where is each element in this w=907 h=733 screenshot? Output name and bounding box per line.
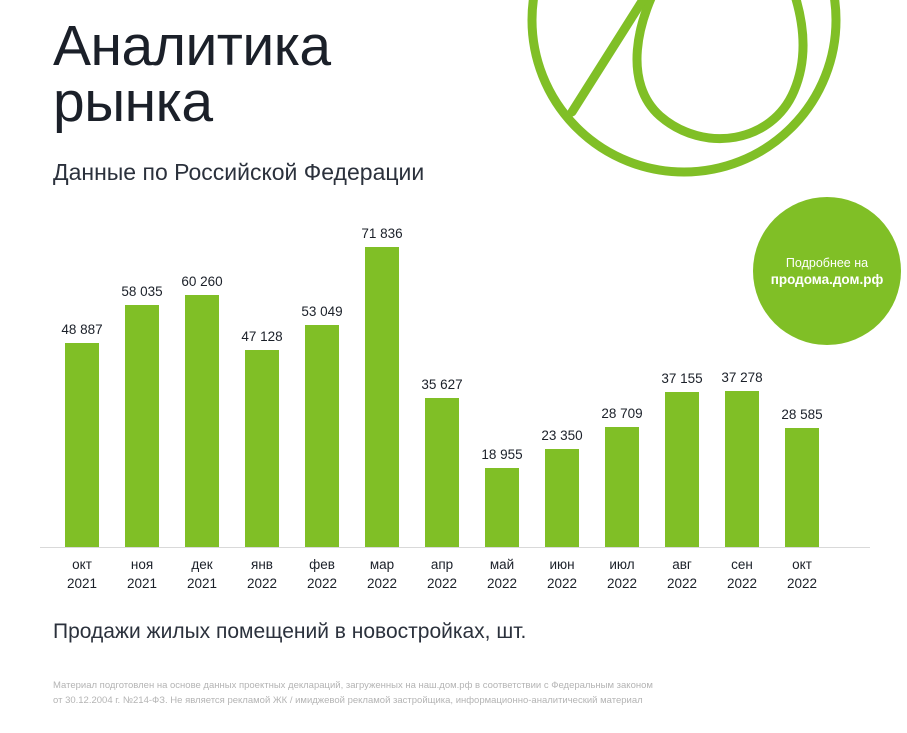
chart-baseline-axis — [40, 547, 870, 548]
chart-bar — [305, 325, 339, 547]
chart-bar-value-label: 71 836 — [352, 226, 412, 241]
chart-bar — [665, 392, 699, 547]
chart-x-label: май2022 — [472, 555, 532, 593]
chart-bar-group: 18 955 — [472, 230, 532, 547]
footer-line-1: Материал подготовлен на основе данных пр… — [53, 678, 853, 693]
chart-plot-area: 48 88758 03560 26047 12853 04971 83635 6… — [40, 230, 870, 547]
chart-bar-group: 53 049 — [292, 230, 352, 547]
chart-bar-value-label: 53 049 — [292, 304, 352, 319]
chart-bar-group: 47 128 — [232, 230, 292, 547]
chart-x-label: авг2022 — [652, 555, 712, 593]
chart-bar — [485, 468, 519, 547]
chart-bar-group: 28 709 — [592, 230, 652, 547]
chart-bar-value-label: 60 260 — [172, 274, 232, 289]
header: Аналитика рынка Данные по Российской Фед… — [53, 18, 523, 186]
infographic-page: Аналитика рынка Данные по Российской Фед… — [0, 0, 907, 733]
chart-x-label: окт2022 — [772, 555, 832, 593]
chart-x-label: июл2022 — [592, 555, 652, 593]
chart-bar-value-label: 28 709 — [592, 406, 652, 421]
chart-bar-value-label: 23 350 — [532, 428, 592, 443]
chart-bar — [365, 247, 399, 547]
chart-bar-value-label: 58 035 — [112, 284, 172, 299]
chart-x-label: фев2022 — [292, 555, 352, 593]
chart-bar-group: 58 035 — [112, 230, 172, 547]
chart-x-label: июн2022 — [532, 555, 592, 593]
page-subtitle: Данные по Российской Федерации — [53, 158, 523, 186]
chart-caption: Продажи жилых помещений в новостройках, … — [53, 619, 526, 645]
chart-bar — [725, 391, 759, 547]
sales-bar-chart: 48 88758 03560 26047 12853 04971 83635 6… — [40, 230, 870, 550]
chart-bar — [125, 305, 159, 547]
chart-bar-group: 23 350 — [532, 230, 592, 547]
chart-x-label: мар2022 — [352, 555, 412, 593]
chart-x-label: сен2022 — [712, 555, 772, 593]
chart-x-label: ноя2021 — [112, 555, 172, 593]
page-title: Аналитика рынка — [53, 18, 523, 130]
chart-x-label: окт2021 — [52, 555, 112, 593]
chart-bar — [545, 449, 579, 547]
chart-bar — [245, 350, 279, 547]
chart-bar-value-label: 48 887 — [52, 322, 112, 337]
chart-bar-group: 48 887 — [52, 230, 112, 547]
chart-x-axis-labels: окт2021ноя2021дек2021янв2022фев2022мар20… — [40, 555, 870, 601]
chart-bar — [185, 295, 219, 547]
chart-bar-group: 37 155 — [652, 230, 712, 547]
chart-bar-value-label: 37 155 — [652, 371, 712, 386]
chart-bar-group: 60 260 — [172, 230, 232, 547]
footer-disclaimer: Материал подготовлен на основе данных пр… — [53, 678, 853, 708]
chart-bar — [425, 398, 459, 547]
chart-bar-value-label: 47 128 — [232, 329, 292, 344]
chart-bar-group: 28 585 — [772, 230, 832, 547]
chart-bar-value-label: 18 955 — [472, 447, 532, 462]
chart-x-label: янв2022 — [232, 555, 292, 593]
chart-x-label: апр2022 — [412, 555, 472, 593]
chart-bar-value-label: 28 585 — [772, 407, 832, 422]
chart-bar-group: 35 627 — [412, 230, 472, 547]
chart-bar — [785, 428, 819, 547]
chart-x-label: дек2021 — [172, 555, 232, 593]
chart-bar-group: 37 278 — [712, 230, 772, 547]
chart-bar-group: 71 836 — [352, 230, 412, 547]
footer-line-2: от 30.12.2004 г. №214-ФЗ. Не является ре… — [53, 693, 853, 708]
chart-bar-value-label: 37 278 — [712, 370, 772, 385]
chart-bar-value-label: 35 627 — [412, 377, 472, 392]
chart-bar — [65, 343, 99, 547]
chart-bar — [605, 427, 639, 547]
dom-rf-logo-icon — [520, 0, 850, 192]
